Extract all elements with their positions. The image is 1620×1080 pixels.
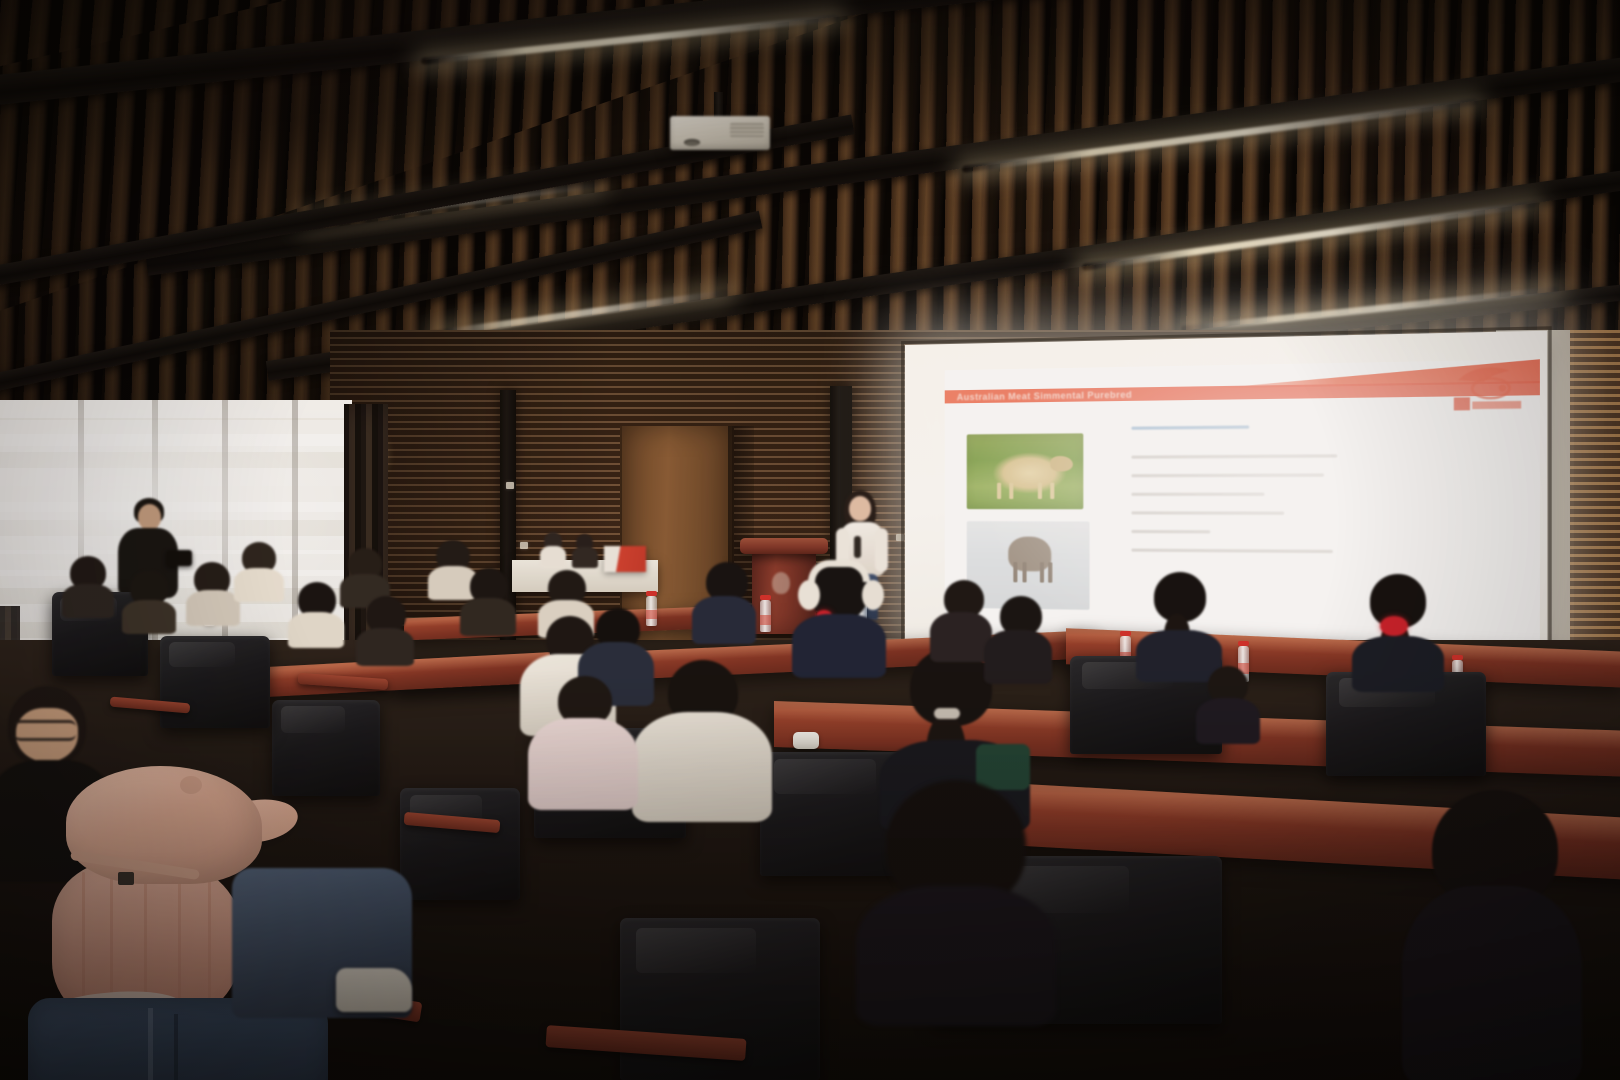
presenter-head — [849, 496, 871, 521]
hoodie — [528, 718, 638, 810]
body — [460, 598, 516, 636]
slide-body-line-4 — [1131, 493, 1264, 496]
pink-hoodie-student — [528, 676, 638, 806]
snow-animal-leg-2 — [1023, 562, 1027, 582]
audience-member — [1136, 572, 1222, 678]
cow-leg-2 — [1009, 483, 1013, 499]
body — [792, 614, 886, 678]
bottle-cap — [1120, 631, 1131, 636]
podium-top — [740, 538, 828, 554]
chair-sheen — [281, 706, 346, 733]
body — [692, 596, 756, 644]
cow-leg-1 — [997, 483, 1001, 499]
microphone[interactable] — [854, 536, 861, 558]
headphone-band — [808, 560, 870, 582]
cow-leg-3 — [1038, 483, 1042, 499]
snow-animal-leg-1 — [1013, 561, 1017, 581]
body — [1402, 886, 1582, 1080]
audience-member — [288, 582, 344, 646]
denim-seam — [174, 1014, 178, 1080]
chair-sheen — [169, 642, 235, 668]
cap-buckle — [118, 872, 134, 885]
white-sneaker — [336, 968, 412, 1012]
lecture-hall-photo: Australian Meat Simmental Purebred — [0, 0, 1620, 1080]
audience-member — [930, 580, 992, 658]
slide-body-line-5 — [1131, 511, 1284, 514]
body — [288, 612, 344, 648]
denim-seam — [148, 1008, 153, 1080]
white-headphones-student — [792, 560, 886, 676]
projector-lens-1 — [684, 139, 700, 146]
body — [1352, 636, 1444, 692]
body — [1196, 698, 1260, 744]
slide-body-line-1 — [1131, 425, 1249, 429]
slide-title: Australian Meat Simmental Purebred — [957, 388, 1132, 403]
judge-left — [540, 532, 566, 566]
body — [856, 886, 1056, 1026]
body — [122, 600, 176, 634]
glasses-icon — [14, 720, 76, 741]
red-white-box — [604, 546, 646, 572]
audience-member — [856, 780, 1056, 1010]
hair-strand — [208, 876, 211, 1000]
chair[interactable] — [400, 788, 520, 900]
bottle-cap — [1452, 655, 1463, 660]
red-scrunchie-student — [1352, 574, 1444, 688]
judge-left-body — [540, 546, 566, 568]
headphone-cup-left — [798, 580, 820, 610]
bottle-cap — [1238, 641, 1249, 646]
slide-body-line-2 — [1131, 454, 1337, 458]
projector-vent-1 — [730, 123, 764, 137]
water-bottle[interactable] — [760, 600, 771, 632]
chair[interactable] — [160, 636, 270, 728]
wall-outlet-1[interactable] — [506, 482, 514, 489]
headphone-cup-right — [862, 580, 884, 610]
white-cup[interactable] — [793, 732, 819, 749]
bottle-label — [760, 615, 771, 625]
snow-animal-leg-3 — [1040, 562, 1044, 582]
audience-member — [460, 568, 516, 634]
body — [186, 590, 240, 626]
snow-animal-leg-4 — [1049, 562, 1053, 582]
audience-member — [692, 562, 756, 640]
audience-member — [1196, 666, 1260, 740]
judge-right — [572, 534, 598, 566]
slide-body-line-3 — [1131, 473, 1323, 477]
body — [234, 568, 284, 602]
judge-right-body — [572, 547, 598, 568]
cattle-brand-logo — [1452, 362, 1524, 413]
audience-member — [62, 556, 114, 616]
wall-outlet-2[interactable] — [520, 542, 528, 549]
cow-on-pasture-photo — [967, 433, 1084, 509]
hair-tie — [934, 708, 960, 719]
right-wall-slats — [1570, 330, 1620, 670]
hair-strand — [82, 872, 85, 1012]
bottle-cap — [646, 591, 657, 596]
audience-member — [234, 542, 284, 600]
chair-sheen — [636, 928, 756, 973]
body — [930, 612, 992, 662]
hair-strand — [178, 870, 181, 1010]
audience-member — [1402, 790, 1582, 1080]
cow-head — [1050, 456, 1073, 471]
cow-leg-4 — [1050, 483, 1054, 499]
audience-member — [356, 596, 414, 664]
audience-member — [186, 562, 240, 624]
camera-operator-head — [138, 504, 161, 530]
bottle-cap — [760, 595, 771, 600]
red-scrunchie — [1380, 616, 1408, 636]
audience-member — [632, 660, 772, 816]
slide-body-line-6 — [1131, 530, 1210, 533]
body — [62, 584, 114, 618]
audience-member — [984, 596, 1052, 680]
cap-button — [180, 776, 202, 794]
wall-outlet-3[interactable] — [896, 534, 904, 541]
slide-body-line-7 — [1131, 549, 1332, 554]
body — [984, 630, 1052, 684]
audience-member — [122, 570, 176, 632]
hoodie — [632, 712, 772, 822]
projector-front — [670, 116, 770, 150]
body — [356, 628, 414, 666]
podium-emblem — [772, 572, 790, 594]
